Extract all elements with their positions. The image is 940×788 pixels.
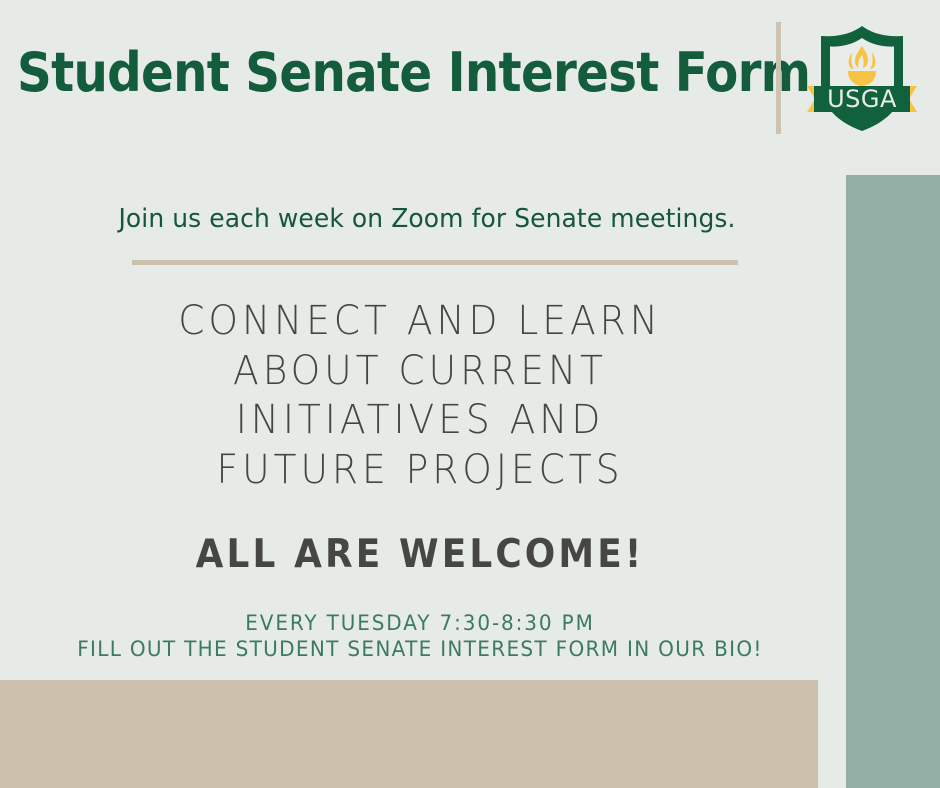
horizontal-rule [132, 260, 738, 265]
poster-canvas: Student Senate Interest Form [0, 0, 940, 788]
footer-block: Every Tuesday 7:30-8:30 PM Fill out the … [0, 610, 840, 662]
footer-line-call-to-action: Fill out the Student Senate Interest For… [19, 636, 821, 662]
headline-line-3: initiatives and [25, 396, 815, 446]
poster-header: Student Senate Interest Form [0, 0, 940, 155]
usga-shield-logo: USGA [806, 22, 918, 134]
logo-ribbon-text: USGA [827, 85, 897, 113]
decor-tan-block-bottom [0, 680, 818, 788]
headline-block: Connect and learn about current initiati… [0, 297, 840, 495]
subtitle-text: Join us each week on Zoom for Senate mee… [17, 204, 837, 234]
headline-line-4: future projects [25, 446, 815, 496]
welcome-text: All are welcome! [34, 532, 807, 578]
headline-line-1: Connect and learn [25, 297, 815, 347]
headline-line-2: about current [25, 347, 815, 397]
header-vertical-divider [776, 22, 781, 134]
page-title: Student Senate Interest Form [17, 44, 810, 102]
decor-green-block-right [846, 175, 940, 788]
footer-line-meeting-time: Every Tuesday 7:30-8:30 PM [21, 610, 819, 636]
